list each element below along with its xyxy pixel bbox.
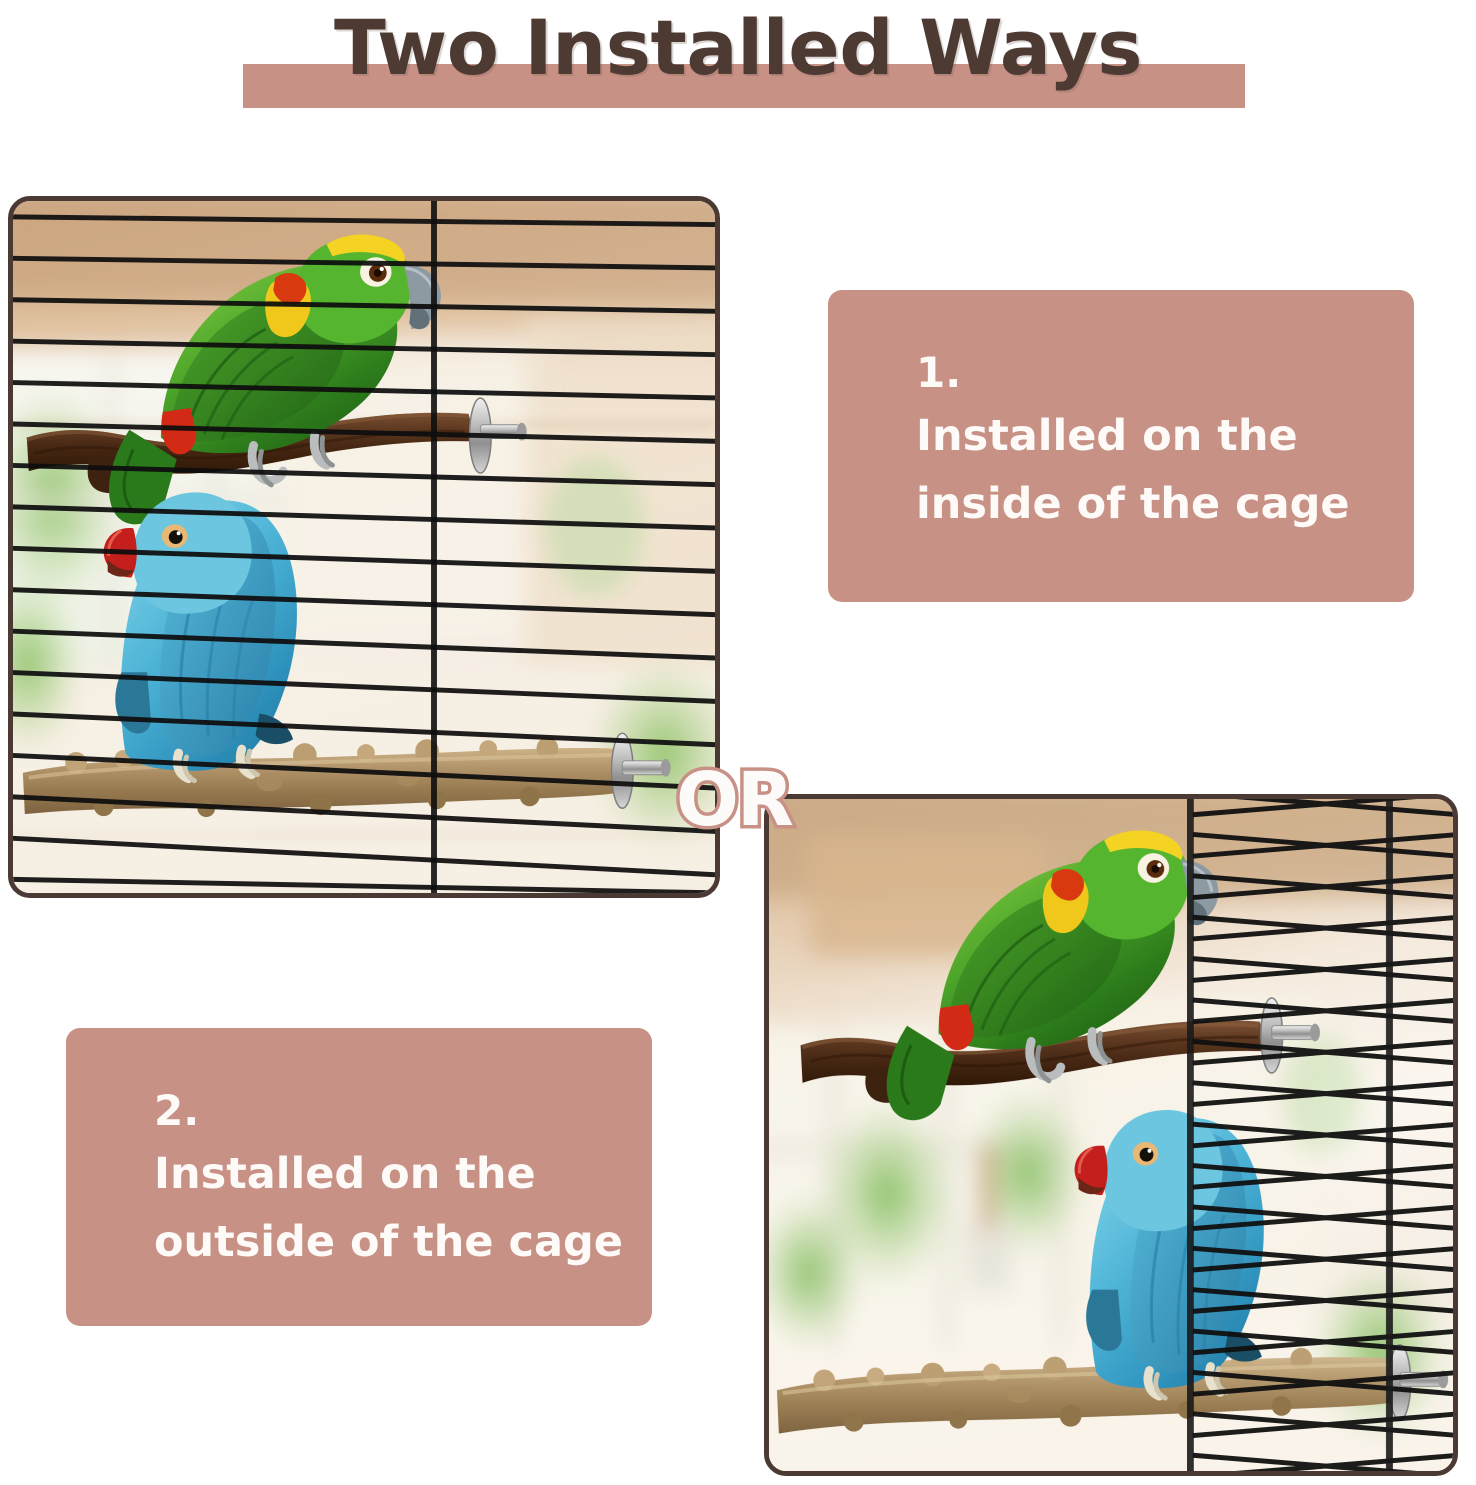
photo-installed-inside <box>8 196 720 898</box>
or-separator-label: OR <box>676 760 792 840</box>
photo-outside-illustration <box>769 799 1453 1471</box>
callout-1-number: 1. <box>916 344 1414 402</box>
cage-post-right <box>1386 799 1393 1471</box>
callout-2-line2: outside of the cage <box>154 1208 652 1276</box>
callout-card-1: 1. Installed on the inside of the cage <box>828 290 1414 602</box>
cage-post-left <box>1187 799 1194 1471</box>
page-title: Two Installed Ways <box>0 2 1476 94</box>
callout-1-line2: inside of the cage <box>916 470 1414 538</box>
callout-2-number: 2. <box>154 1082 652 1140</box>
photo-inside-illustration <box>13 201 715 893</box>
infographic-root: Two Installed Ways <box>0 0 1476 1485</box>
photo-installed-outside <box>764 794 1458 1476</box>
callout-2-line1: Installed on the <box>154 1140 652 1208</box>
callout-card-2: 2. Installed on the outside of the cage <box>66 1028 652 1326</box>
callout-1-line1: Installed on the <box>916 402 1414 470</box>
cage-post-vertical <box>431 201 437 893</box>
page-title-block: Two Installed Ways <box>0 0 1476 120</box>
